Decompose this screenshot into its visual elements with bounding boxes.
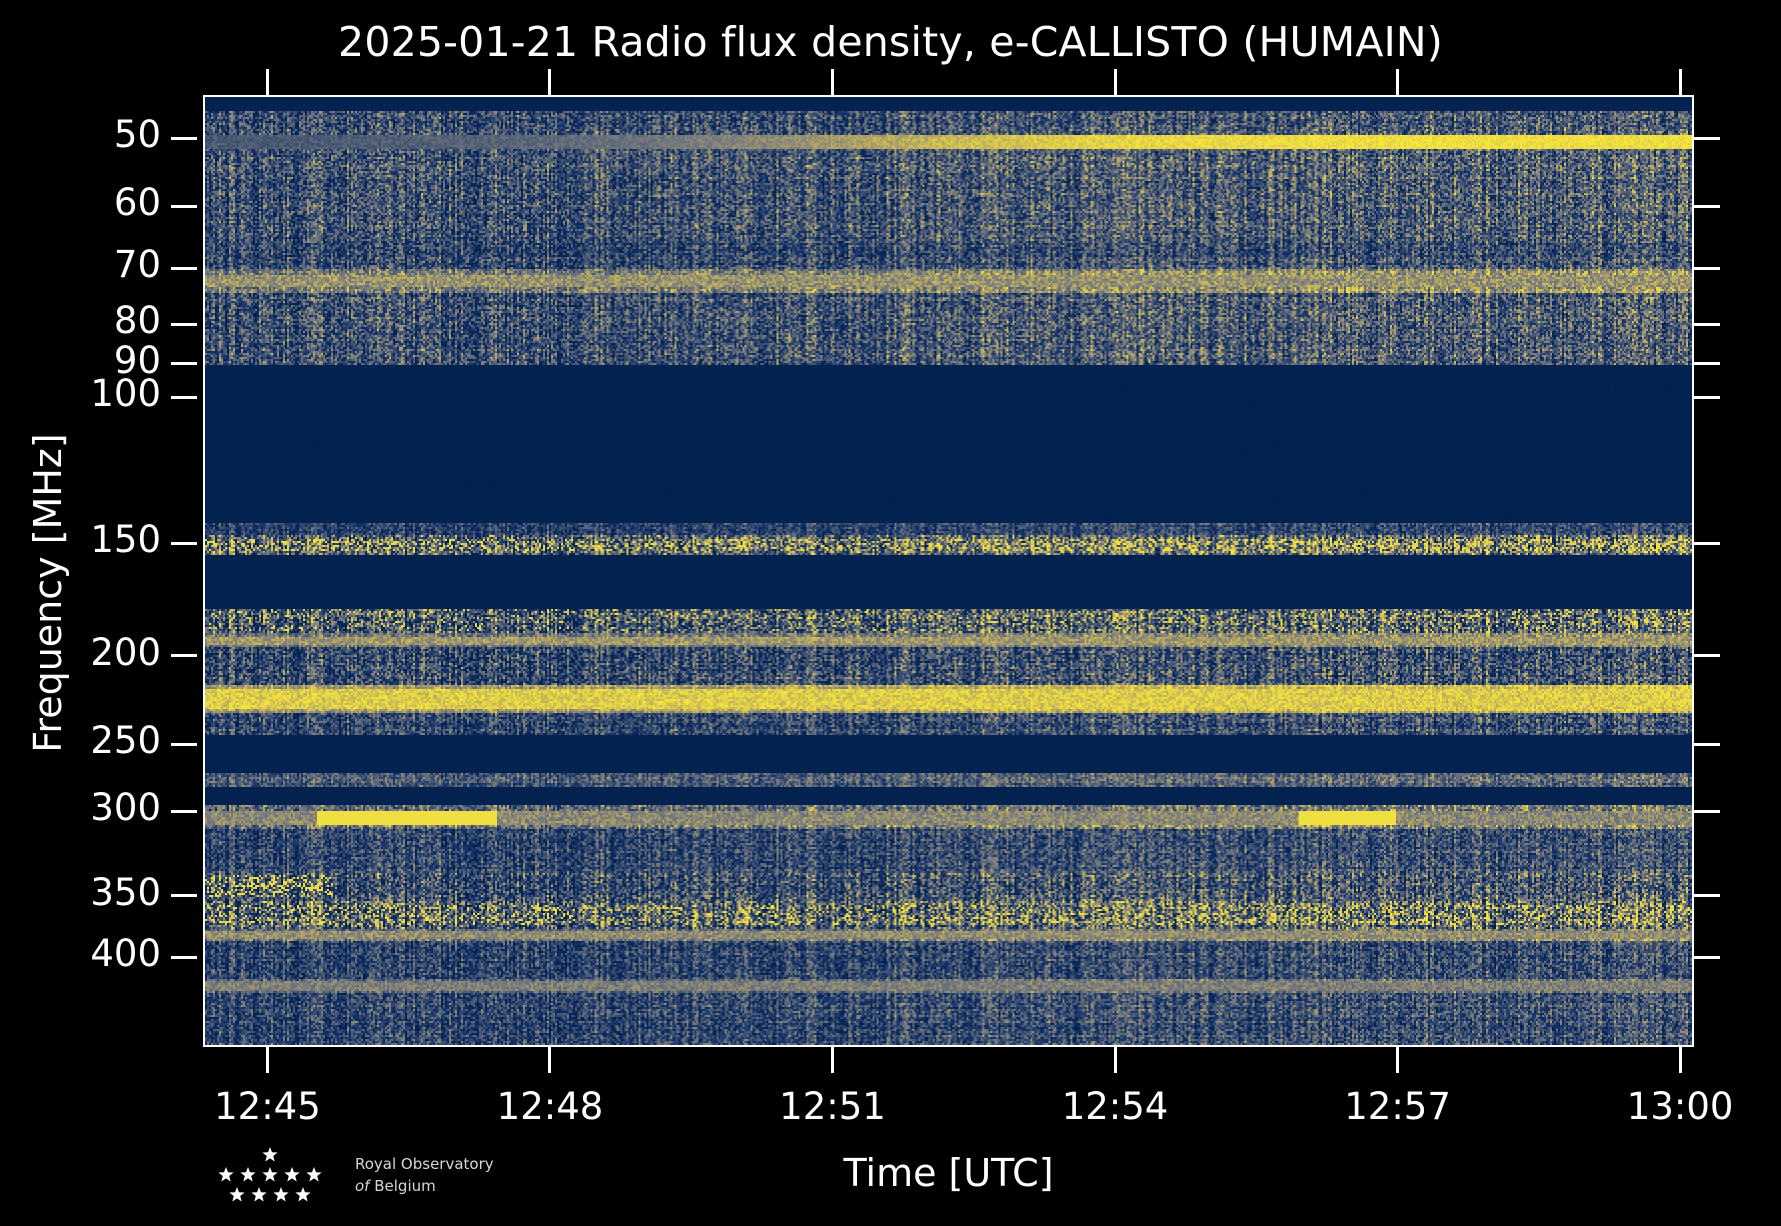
x-tick-label-12-54: 12:54 xyxy=(1062,1085,1169,1128)
royal-observatory-logo: Royal Observatory of Belgium xyxy=(190,1143,610,1213)
axis-spine-right xyxy=(1692,95,1694,1047)
x-tick-12-45 xyxy=(266,69,269,95)
y-tick-80 xyxy=(1694,323,1720,326)
y-tick-200 xyxy=(171,654,197,657)
y-tick-250 xyxy=(1694,743,1720,746)
x-tick-label-13-00: 13:00 xyxy=(1627,1085,1734,1128)
y-tick-label-50: 50 xyxy=(114,116,161,153)
y-tick-100 xyxy=(1694,396,1720,399)
y-tick-70 xyxy=(1694,267,1720,270)
star-icon xyxy=(295,1187,310,1201)
star-icon xyxy=(229,1187,244,1201)
y-tick-80 xyxy=(171,323,197,326)
y-tick-50 xyxy=(171,137,197,140)
star-icon xyxy=(262,1167,277,1181)
y-tick-250 xyxy=(171,743,197,746)
y-tick-label-150: 150 xyxy=(90,521,161,558)
star-icon xyxy=(251,1187,266,1201)
x-tick-label-12-51: 12:51 xyxy=(779,1085,886,1128)
star-icon xyxy=(306,1167,321,1181)
x-tick-12-57 xyxy=(1396,1047,1399,1073)
y-tick-100 xyxy=(171,396,197,399)
y-tick-90 xyxy=(1694,362,1720,365)
figure-title: 2025-01-21 Radio flux density, e-CALLIST… xyxy=(0,18,1781,66)
x-tick-label-12-45: 12:45 xyxy=(214,1085,321,1128)
star-icon xyxy=(240,1167,255,1181)
y-tick-label-80: 80 xyxy=(114,302,161,339)
x-tick-12-51 xyxy=(831,1047,834,1073)
star-icon xyxy=(284,1167,299,1181)
star-icon xyxy=(273,1187,288,1201)
y-tick-label-70: 70 xyxy=(114,246,161,283)
stars-icon xyxy=(190,1143,350,1207)
x-tick-12-54 xyxy=(1114,69,1117,95)
axis-spine-bottom xyxy=(203,1045,1694,1047)
spectrogram-plot-area xyxy=(205,97,1692,1045)
y-tick-400 xyxy=(1694,956,1720,959)
y-tick-label-300: 300 xyxy=(90,789,161,826)
logo-line-2: of Belgium xyxy=(355,1175,605,1197)
x-tick-12-54 xyxy=(1114,1047,1117,1073)
spectrogram-figure: 2025-01-21 Radio flux density, e-CALLIST… xyxy=(0,0,1781,1226)
star-icon xyxy=(218,1167,233,1181)
y-tick-150 xyxy=(1694,542,1720,545)
x-tick-12-48 xyxy=(548,69,551,95)
y-tick-150 xyxy=(171,542,197,545)
y-tick-300 xyxy=(1694,810,1720,813)
logo-line-1: Royal Observatory xyxy=(355,1155,494,1173)
y-tick-60 xyxy=(171,205,197,208)
x-tick-13-00 xyxy=(1679,1047,1682,1073)
x-tick-13-00 xyxy=(1679,69,1682,95)
axis-spine-left xyxy=(203,95,205,1047)
y-tick-400 xyxy=(171,956,197,959)
x-tick-12-48 xyxy=(548,1047,551,1073)
x-tick-12-45 xyxy=(266,1047,269,1073)
y-tick-label-100: 100 xyxy=(90,375,161,412)
y-tick-label-400: 400 xyxy=(90,935,161,972)
logo-belgium: Belgium xyxy=(374,1177,436,1195)
spectrogram-canvas xyxy=(205,97,1692,1045)
y-tick-label-60: 60 xyxy=(114,184,161,221)
y-tick-300 xyxy=(171,810,197,813)
y-tick-200 xyxy=(1694,654,1720,657)
y-tick-label-200: 200 xyxy=(90,634,161,671)
y-tick-70 xyxy=(171,267,197,270)
y-tick-label-250: 250 xyxy=(90,722,161,759)
y-tick-350 xyxy=(171,894,197,897)
y-tick-label-350: 350 xyxy=(90,874,161,911)
y-tick-350 xyxy=(1694,894,1720,897)
logo-of: of xyxy=(355,1177,369,1195)
x-tick-12-57 xyxy=(1396,69,1399,95)
x-tick-12-51 xyxy=(831,69,834,95)
y-tick-50 xyxy=(1694,137,1720,140)
x-tick-label-12-57: 12:57 xyxy=(1344,1085,1451,1128)
y-axis-label: Frequency [MHz] xyxy=(26,383,70,803)
x-tick-label-12-48: 12:48 xyxy=(497,1085,604,1128)
logo-text: Royal Observatory of Belgium xyxy=(355,1153,605,1197)
y-tick-60 xyxy=(1694,205,1720,208)
axis-spine-top xyxy=(203,95,1694,97)
star-icon xyxy=(262,1147,277,1161)
y-tick-90 xyxy=(171,362,197,365)
